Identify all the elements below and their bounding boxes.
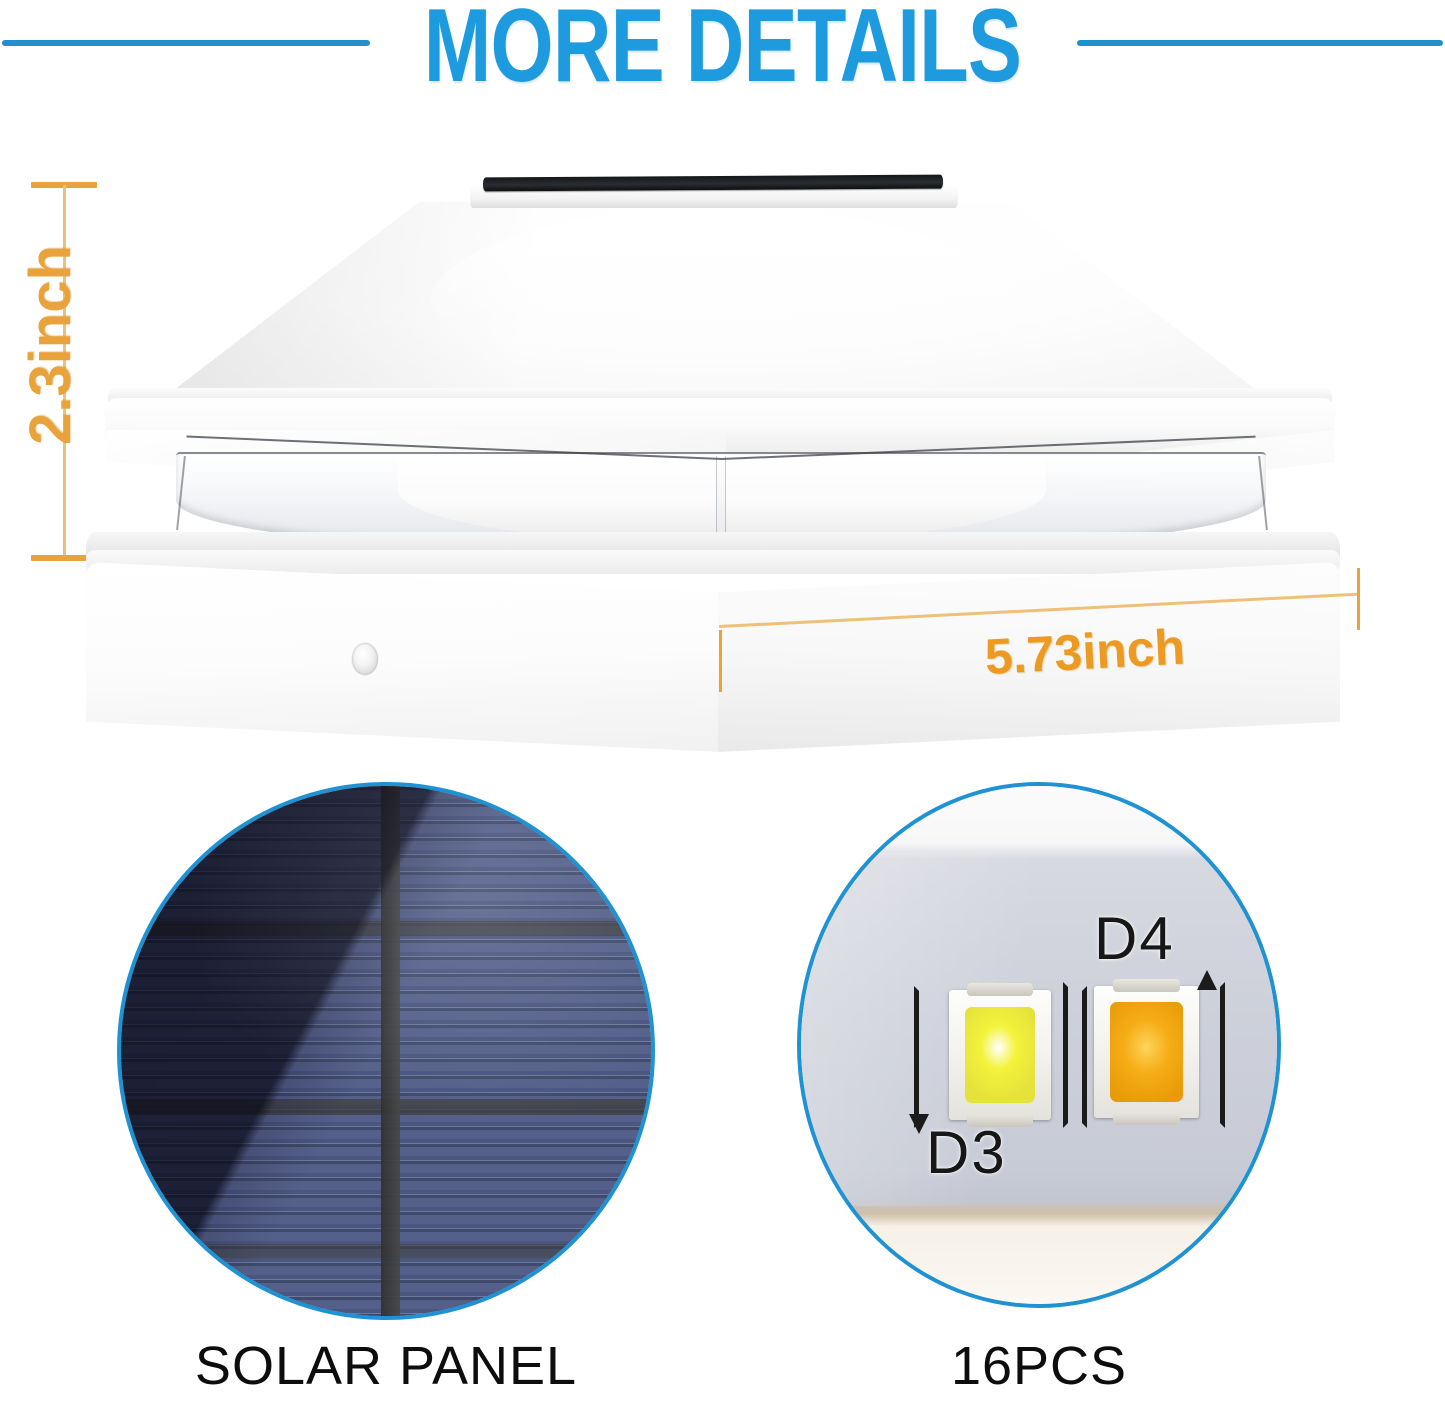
- silk-bracket-d4-right: [1199, 982, 1225, 1128]
- smd-led-d3-emitter: [965, 1007, 1034, 1103]
- product-illustration: [0, 100, 1445, 740]
- width-dimension-label: 5.73inch: [984, 620, 1187, 684]
- smd-led-d4-bottom-lug: [1113, 1112, 1180, 1125]
- smd-led-d4-emitter: [1110, 1002, 1184, 1102]
- post-cap-base-front: [86, 562, 720, 752]
- smd-led-d4: [1094, 986, 1199, 1118]
- page-title: MORE DETAILS: [159, 0, 1286, 98]
- smd-led-d4-top-lug: [1113, 979, 1180, 992]
- silk-label-d3: D3: [926, 1118, 1007, 1187]
- solar-panel-gloss: [121, 786, 651, 1316]
- silk-bracket-d4-left: [1063, 982, 1089, 1128]
- post-cap-base-lip: [86, 550, 1340, 574]
- silk-bracket-d3-left: [914, 986, 940, 1128]
- power-button-icon[interactable]: [352, 643, 378, 675]
- page-header: MORE DETAILS: [0, 0, 1445, 100]
- caption-solar-panel: SOLAR PANEL: [117, 1336, 655, 1396]
- detail-circle-leds: D3 D4: [797, 782, 1281, 1308]
- width-dimension-cap-left: [719, 630, 722, 692]
- detail-circle-solar-panel: [117, 782, 655, 1320]
- product-hero: 2.3inch 5.73inch: [0, 100, 1445, 740]
- solar-panel-top: [483, 175, 943, 192]
- smd-led-d3-top-lug: [967, 983, 1032, 996]
- width-dimension-cap-right: [1357, 568, 1360, 630]
- caption-leds: 16PCS: [797, 1336, 1281, 1396]
- smd-led-d3: [949, 990, 1051, 1120]
- silk-label-d4: D4: [1094, 904, 1175, 973]
- silk-arrow-d4: [1197, 970, 1217, 990]
